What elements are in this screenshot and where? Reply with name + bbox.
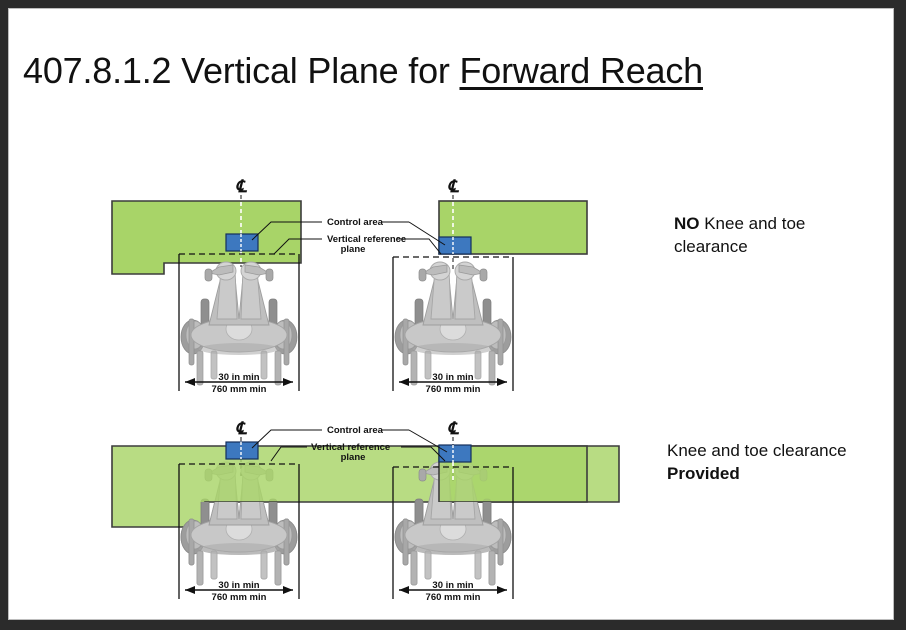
- dimension-imperial: 30 in min: [432, 580, 473, 591]
- dimension-imperial: 30 in min: [218, 372, 259, 383]
- note-bot-rest: Knee and toe clearance: [667, 441, 847, 460]
- wheelchair-occupant-top-left: [181, 262, 297, 385]
- note-knee-toe-clearance-provided: Knee and toe clearance Provided: [667, 439, 872, 485]
- callout-control-area-label: Control area: [327, 425, 384, 436]
- slide-canvas: 407.8.1.2 Vertical Plane for Forward Rea…: [8, 8, 894, 620]
- wheelchair-occupant-top-right: [395, 262, 511, 385]
- callout-vrp-line2: plane: [341, 244, 366, 255]
- dimension-metric: 760 mm min: [426, 592, 481, 603]
- note-top-bold: NO: [674, 214, 700, 233]
- dimension-metric: 760 mm min: [426, 384, 481, 395]
- centerline-symbol: ℄: [236, 419, 248, 438]
- centerline-symbol: ℄: [448, 419, 460, 438]
- figure-diagram: ℂ ℄: [9, 9, 894, 620]
- callout-vrp-line2: plane: [341, 452, 366, 463]
- centerline-symbol: ℄: [236, 177, 248, 196]
- dimension-metric: 760 mm min: [212, 384, 267, 395]
- control-area-top-left: [226, 234, 258, 251]
- green-surface-top-left: [112, 201, 301, 274]
- dimension-metric: 760 mm min: [212, 592, 267, 603]
- callout-control-area-label: Control area: [327, 217, 384, 228]
- dimension-imperial: 30 in min: [432, 372, 473, 383]
- callout-vrp-line1: Vertical reference: [327, 234, 406, 245]
- control-area-top-right: [439, 237, 471, 254]
- panel-top-left: ℄ 30 in min 760 mm: [112, 177, 301, 395]
- centerline-symbol: ℄: [448, 177, 460, 196]
- panel-top-right: ℄ 30 in min 760 mm min: [393, 177, 587, 395]
- note-bot-bold: Provided: [667, 464, 740, 483]
- control-area-bottom-left: [226, 442, 258, 459]
- dimension-imperial: 30 in min: [218, 580, 259, 591]
- note-no-knee-toe-clearance: NO Knee and toe clearance: [674, 212, 879, 258]
